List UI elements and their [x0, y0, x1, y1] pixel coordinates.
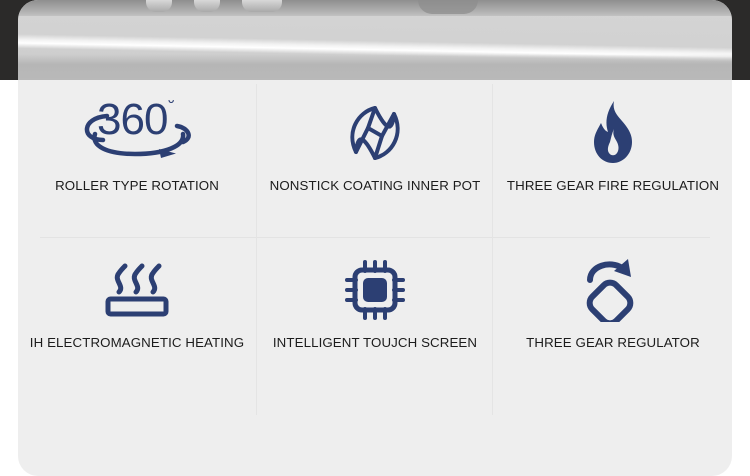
feature-item-gear-regulator: THREE GEAR REGULATOR	[494, 237, 732, 394]
feature-label: ROLLER TYPE ROTATION	[55, 178, 219, 193]
leaf-nonstick-icon-svg	[344, 102, 406, 164]
photo-top-edge	[18, 0, 732, 16]
feature-label: THREE GEAR REGULATOR	[526, 335, 700, 350]
feature-label: NONSTICK COATING INNER POT	[270, 178, 481, 193]
flame-icon	[588, 96, 638, 170]
cpu-chip-icon-svg	[345, 260, 405, 320]
rotary-regulator-icon-svg	[584, 258, 642, 322]
cpu-chip-icon	[345, 253, 405, 327]
flame-icon-svg	[588, 101, 638, 165]
feature-item-nonstick-coating: NONSTICK COATING INNER POT	[256, 80, 494, 237]
feature-item-roller-type-rotation: 360 ° ROLLER TYPE ROTATION	[18, 80, 256, 237]
feature-label: INTELLIGENT TOUJCH SCREEN	[273, 335, 477, 350]
photo-lower-band	[18, 54, 732, 80]
product-photo-band	[18, 0, 732, 80]
feature-panel: 360 ° ROLLER TYPE ROTATION	[18, 80, 732, 476]
360-rotation-icon: 360 °	[73, 96, 201, 170]
360-rotation-icon-svg: 360 °	[73, 100, 201, 166]
rotary-regulator-icon	[584, 253, 642, 327]
feature-item-touch-screen: INTELLIGENT TOUJCH SCREEN	[256, 237, 494, 394]
feature-item-electromagnetic-heating: IH ELECTROMAGNETIC HEATING	[18, 237, 256, 394]
product-feature-screen: 360 ° ROLLER TYPE ROTATION	[0, 0, 750, 476]
induction-heating-icon-svg	[103, 262, 171, 318]
feature-item-fire-regulation: THREE GEAR FIRE REGULATION	[494, 80, 732, 237]
feature-label: THREE GEAR FIRE REGULATION	[507, 178, 719, 193]
photo-detail	[418, 0, 478, 14]
feature-grid: 360 ° ROLLER TYPE ROTATION	[18, 80, 732, 476]
degree-symbol: °	[167, 100, 175, 115]
360-number: 360	[97, 100, 167, 142]
leaf-nonstick-icon	[344, 96, 406, 170]
photo-knob	[242, 0, 282, 12]
induction-heating-icon	[103, 253, 171, 327]
feature-label: IH ELECTROMAGNETIC HEATING	[30, 335, 244, 350]
